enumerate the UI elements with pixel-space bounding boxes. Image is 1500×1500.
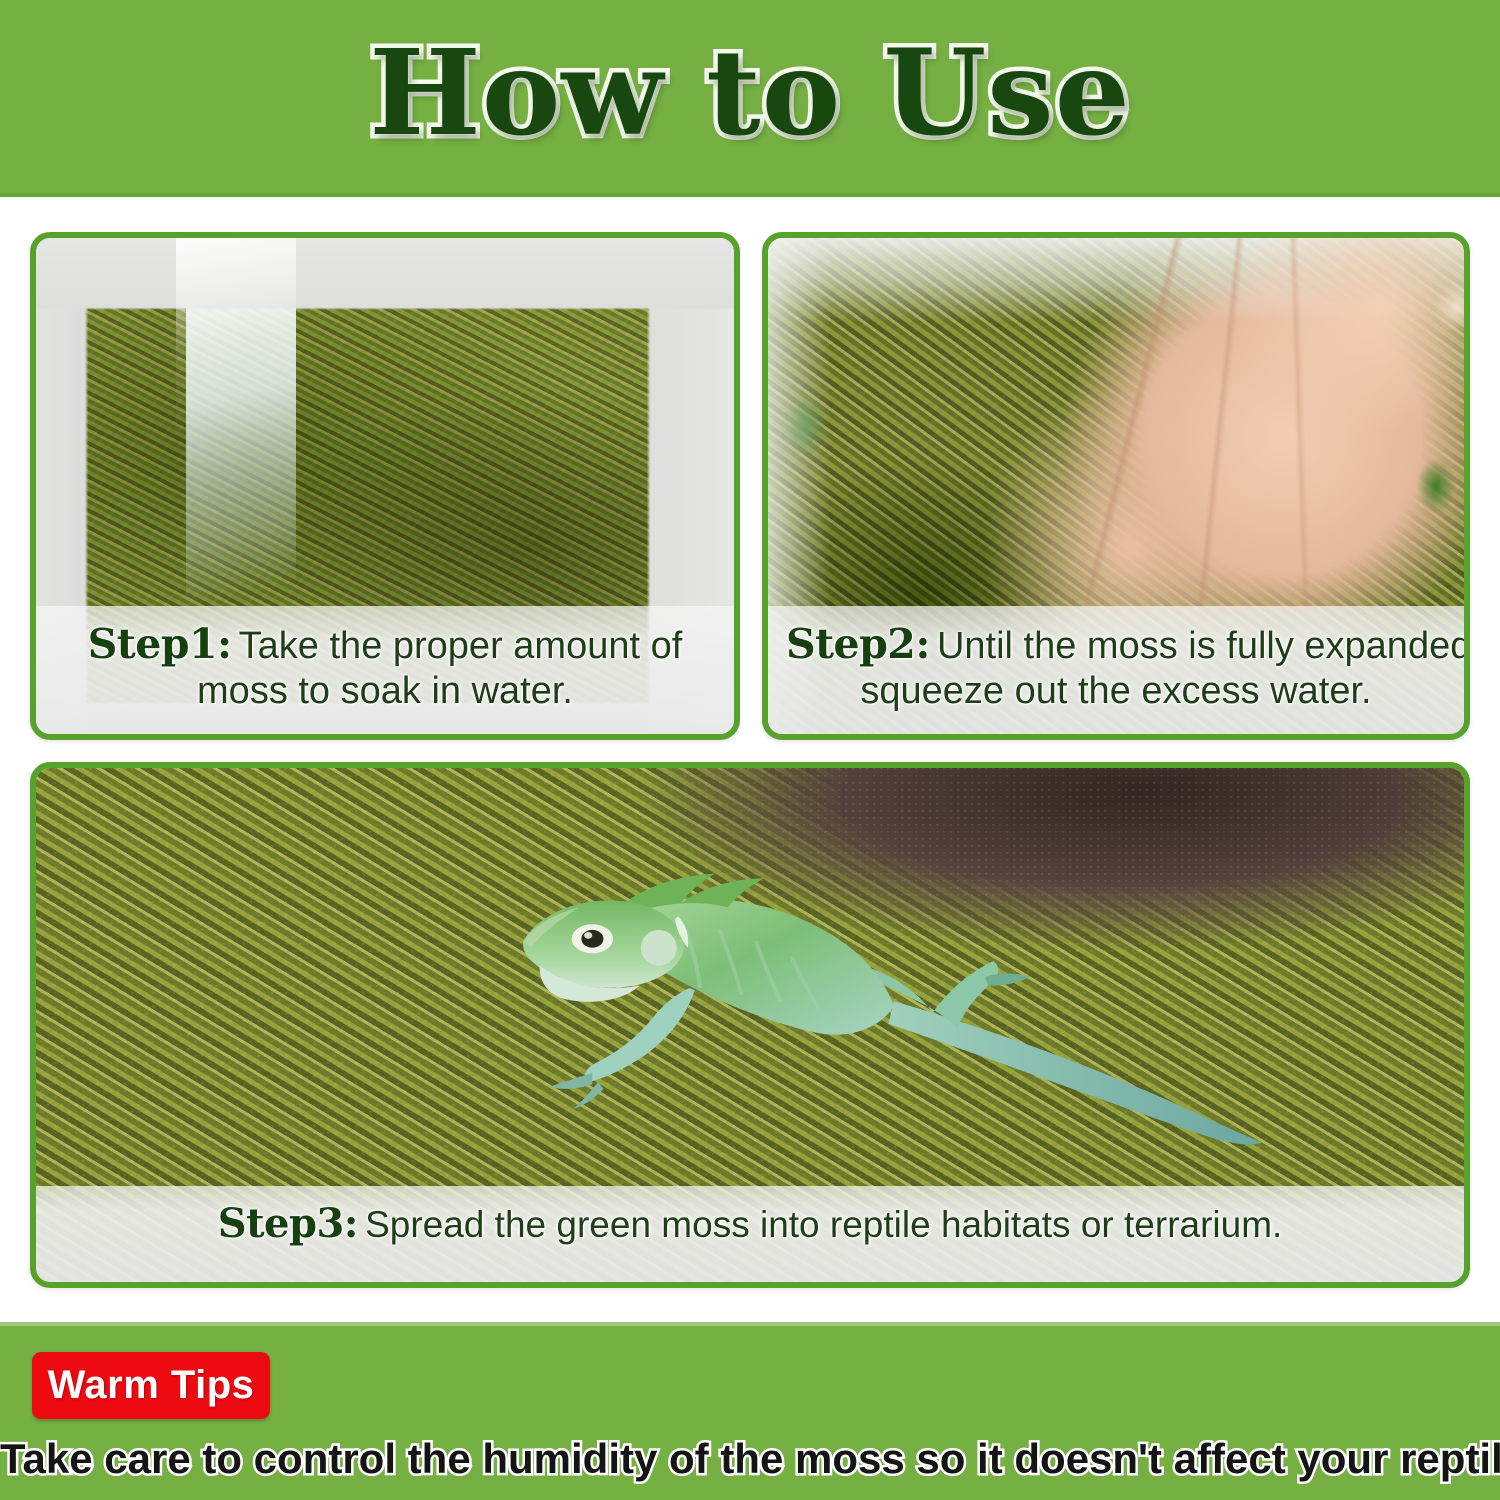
infographic-page: How to Use Step1:Take the proper amount … — [0, 0, 1500, 1500]
warm-tips-badge: Warm Tips — [32, 1352, 270, 1419]
step-2-text-line-2: squeeze out the excess water. — [786, 669, 1446, 714]
step-2-label: Step2: — [786, 620, 930, 668]
step-1-label: Step1: — [88, 620, 232, 668]
warm-tips-label: Warm Tips — [48, 1363, 255, 1408]
step-card-3: Step3:Spread the green moss into reptile… — [30, 762, 1470, 1288]
header-band: How to Use — [0, 0, 1500, 197]
step-3-caption: Step3:Spread the green moss into reptile… — [36, 1186, 1464, 1282]
warm-tip-text: Take care to control the humidity of the… — [0, 1438, 1500, 1480]
step-3-label: Step3: — [218, 1200, 358, 1247]
step-3-text-line-1: Spread the green moss into reptile habit… — [365, 1204, 1282, 1245]
step-card-1: Step1:Take the proper amount of moss to … — [30, 232, 740, 740]
step-card-2: Step2:Until the moss is fully expanded, … — [762, 232, 1470, 740]
step-3-caption-line-1: Step3:Spread the green moss into reptile… — [54, 1200, 1446, 1247]
step-1-caption: Step1:Take the proper amount of moss to … — [36, 606, 734, 734]
step-2-caption: Step2:Until the moss is fully expanded, … — [768, 606, 1464, 734]
step-1-text-line-2: moss to soak in water. — [54, 669, 716, 714]
step-1-caption-line-1: Step1:Take the proper amount of — [54, 620, 716, 669]
step-2-caption-line-1: Step2:Until the moss is fully expanded, — [786, 620, 1446, 669]
step-1-text-line-1: Take the proper amount of — [239, 625, 683, 667]
step-2-text-line-1: Until the moss is fully expanded, — [937, 625, 1470, 667]
footer-band: Warm Tips Take care to control the humid… — [0, 1322, 1500, 1500]
page-title: How to Use — [369, 34, 1131, 152]
